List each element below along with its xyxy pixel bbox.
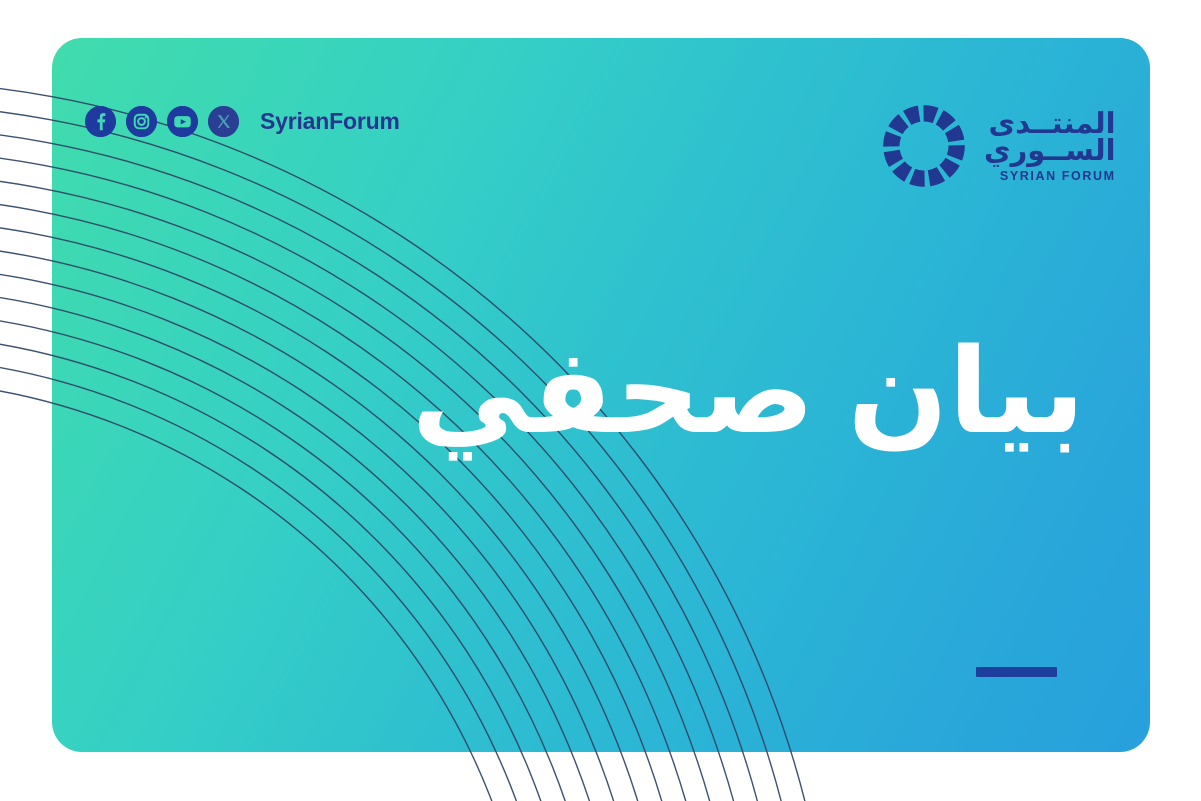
logo-arabic-line-2: الســوري bbox=[984, 138, 1116, 165]
x-twitter-icon[interactable] bbox=[208, 106, 239, 137]
logo-arabic-line-1: المنتــدى bbox=[989, 111, 1116, 138]
youtube-icon[interactable] bbox=[167, 106, 198, 137]
accent-rule-divider bbox=[976, 667, 1057, 677]
social-handle-label: SyrianForum bbox=[260, 108, 400, 135]
facebook-icon[interactable] bbox=[85, 106, 116, 137]
syrian-forum-logo: المنتــدى الســوري SYRIAN FORUM bbox=[876, 98, 1116, 194]
logo-english-label: SYRIAN FORUM bbox=[1000, 169, 1116, 183]
page-title: بيان صحفي bbox=[385, 326, 1085, 458]
banner-canvas: SyrianForum المنتــدى الســوري SYRIAN FO… bbox=[0, 0, 1201, 801]
logo-wordmark: المنتــدى الســوري SYRIAN FORUM bbox=[984, 109, 1116, 184]
instagram-icon[interactable] bbox=[126, 106, 157, 137]
segmented-ring-icon bbox=[876, 98, 972, 194]
social-links-row: SyrianForum bbox=[85, 106, 400, 137]
